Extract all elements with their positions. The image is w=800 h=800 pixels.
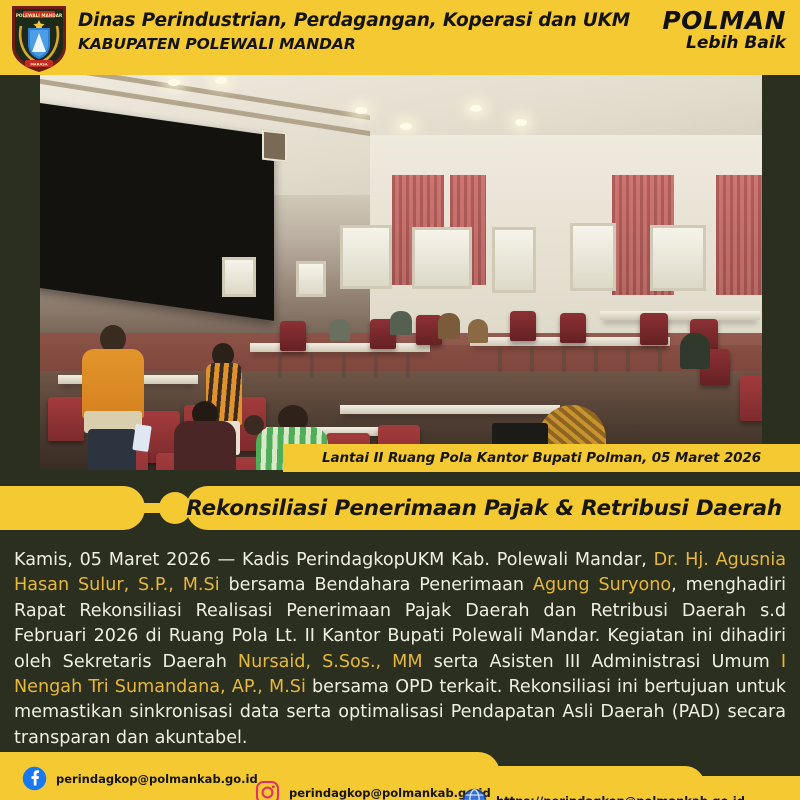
- window: [570, 223, 616, 291]
- person-far-seated: [438, 313, 460, 339]
- poster-canvas: POLEWALI MANDAR MARASA Dinas Perindustri…: [0, 0, 800, 800]
- table-legs: [470, 346, 670, 372]
- chair: [510, 311, 536, 341]
- article-text: bersama Bendahara Penerimaan: [220, 575, 533, 595]
- instagram-icon[interactable]: [255, 780, 280, 800]
- headline-band: Rekonsiliasi Penerimaan Pajak & Retribus…: [0, 470, 800, 542]
- table-legs: [250, 352, 430, 378]
- curtain: [716, 175, 762, 295]
- person-head: [244, 415, 264, 435]
- article-body: Kamis, 05 Maret 2026 — Kadis Perindagkop…: [14, 548, 786, 751]
- website-globe-icon[interactable]: [462, 788, 487, 800]
- chair: [48, 397, 84, 441]
- footer-item-website[interactable]: https://perindagkop@polmankab.go.id: [462, 788, 745, 800]
- person-far-seated: [330, 319, 350, 341]
- svg-text:MARASA: MARASA: [30, 62, 47, 66]
- window: [340, 225, 392, 289]
- table: [340, 405, 560, 414]
- article-text: Kamis, 05 Maret 2026 — Kadis Perindagkop…: [14, 550, 654, 570]
- person-far-seated: [390, 311, 412, 335]
- window: [492, 227, 536, 293]
- footer-label-facebook: perindagkop@polmankab.go.id: [56, 772, 258, 786]
- department-name: Dinas Perindustrian, Perdagangan, Kopera…: [78, 9, 630, 32]
- footer-contact-bar: perindagkop@polmankab.go.id perindagkop@…: [0, 740, 800, 800]
- footer-item-facebook[interactable]: perindagkop@polmankab.go.id: [22, 766, 258, 791]
- decor-left-bar: [0, 486, 145, 530]
- wall-portrait: [262, 130, 287, 163]
- person-hijab-dark: [680, 333, 710, 369]
- ceiling-light: [355, 107, 367, 114]
- footer-label-website: https://perindagkop@polmankab.go.id: [496, 794, 745, 800]
- ceiling-light: [470, 105, 482, 112]
- person-standing-orange-shirt: [82, 349, 144, 419]
- ceiling-light: [515, 119, 527, 126]
- article-highlight-name: Agung Suryono: [533, 575, 671, 595]
- photo-caption-bar: Lantai II Ruang Pola Kantor Bupati Polma…: [283, 444, 800, 472]
- polman-wordmark: POLMAN: [656, 8, 786, 33]
- headline-text: Rekonsiliasi Penerimaan Pajak & Retribus…: [186, 496, 782, 521]
- polewali-mandar-coat-of-arms-icon: POLEWALI MANDAR MARASA: [8, 2, 70, 74]
- polman-tagline: Lebih Baik: [656, 35, 786, 52]
- window: [296, 261, 326, 297]
- window: [222, 257, 256, 297]
- window: [412, 227, 472, 289]
- table: [600, 311, 760, 320]
- chair: [560, 313, 586, 343]
- facebook-icon[interactable]: [22, 766, 47, 791]
- regency-name: KABUPATEN POLEWALI MANDAR: [78, 35, 630, 53]
- article-highlight-name: Nursaid, S.Sos., MM: [238, 652, 423, 672]
- header-bar: POLEWALI MANDAR MARASA Dinas Perindustri…: [0, 0, 800, 75]
- svg-text:POLEWALI MANDAR: POLEWALI MANDAR: [16, 13, 63, 18]
- chair: [740, 375, 762, 421]
- photo-caption-text: Lantai II Ruang Pola Kantor Bupati Polma…: [322, 450, 761, 466]
- photo-scene: [40, 75, 762, 470]
- article-text: serta Asisten III Administrasi Umum: [423, 652, 781, 672]
- person-far-seated: [468, 319, 488, 343]
- event-photo: [40, 75, 762, 470]
- door: [650, 225, 706, 291]
- ceiling-light: [400, 123, 412, 130]
- chair: [640, 313, 668, 345]
- footer-item-instagram[interactable]: perindagkop@polmankab.go.id: [255, 780, 491, 800]
- ceiling-light: [215, 77, 227, 84]
- ceiling-light: [168, 79, 180, 86]
- chair: [280, 321, 306, 351]
- footer-label-instagram: perindagkop@polmankab.go.id: [289, 786, 491, 800]
- polman-brand-logo: POLMAN Lebih Baik: [656, 8, 786, 64]
- headline-pill: Rekonsiliasi Penerimaan Pajak & Retribus…: [186, 486, 800, 530]
- person-trousers: [88, 429, 136, 470]
- person-seated: [174, 421, 236, 470]
- header-title-group: Dinas Perindustrian, Perdagangan, Kopera…: [78, 9, 630, 53]
- table: [250, 343, 430, 352]
